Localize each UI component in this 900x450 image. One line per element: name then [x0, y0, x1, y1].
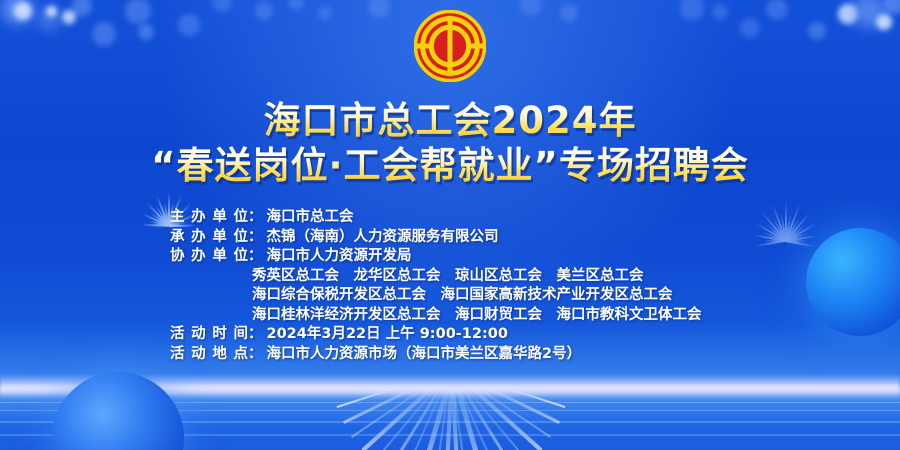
bokeh-dot	[680, 0, 704, 20]
time-label: 活动时间	[170, 325, 248, 345]
bokeh-dot	[125, 0, 151, 24]
info-row-place: 活动地点 ： 海口市人力资源市场（海口市美兰区嘉华路2号）	[170, 345, 730, 365]
coorganizer-extra-line: 秀英区总工会 龙华区总工会 琼山区总工会 美兰区总工会	[252, 267, 730, 287]
bokeh-dot	[852, 0, 886, 28]
info-block: 主办单位 ： 海口市总工会 承办单位 ： 杰锦（海南）人力资源服务有限公司 协办…	[0, 208, 900, 364]
coorganizer-extra-line: 海口综合保税开发区总工会 海口国家高新技术产业开发区总工会	[252, 286, 730, 306]
organizer-value: 海口市总工会	[267, 208, 731, 228]
info-row-coorganizer-extra: 秀英区总工会 龙华区总工会 琼山区总工会 美兰区总工会	[170, 267, 730, 287]
trade-union-emblem	[414, 10, 486, 82]
bokeh-dot	[766, 0, 788, 20]
bokeh-dot	[2, 0, 32, 24]
bokeh-dot	[14, 2, 32, 20]
bokeh-dot	[560, 4, 578, 22]
bokeh-dot	[62, 10, 76, 24]
bokeh-dot	[368, 0, 390, 18]
bokeh-dot	[876, 14, 892, 30]
undertaker-label: 承办单位	[170, 228, 248, 248]
bokeh-dot	[138, 24, 154, 40]
bokeh-dot	[178, 14, 200, 36]
bokeh-dot	[288, 0, 304, 10]
bokeh-dot	[72, 0, 92, 16]
colon: ：	[248, 228, 263, 248]
title-block: 海口市总工会2024年 “春送岗位·工会帮就业”专场招聘会	[0, 98, 900, 188]
bokeh-dot	[712, 4, 728, 20]
time-value: 2024年3月22日 上午 9:00-12:00	[267, 325, 731, 345]
info-row-coorganizer: 协办单位 ： 海口市人力资源开发局	[170, 247, 730, 267]
info-row-coorganizer-extra: 海口桂林洋经济开发区总工会 海口财贸工会 海口市教科文卫体工会	[170, 306, 730, 326]
info-row-organizer: 主办单位 ： 海口市总工会	[170, 208, 730, 228]
place-value: 海口市人力资源市场（海口市美兰区嘉华路2号）	[267, 345, 731, 365]
bokeh-dot	[38, 8, 60, 30]
poster-title-line-2: “春送岗位·工会帮就业”专场招聘会	[0, 143, 900, 188]
bokeh-dot	[520, 0, 542, 16]
poster-title-line-1: 海口市总工会2024年	[0, 98, 900, 143]
organizer-label: 主办单位	[170, 208, 248, 228]
bokeh-dot	[318, 6, 332, 20]
colon: ：	[248, 325, 263, 345]
bokeh-dot	[46, 6, 57, 17]
place-label: 活动地点	[170, 345, 248, 365]
info-row-coorganizer-extra: 海口综合保税开发区总工会 海口国家高新技术产业开发区总工会	[170, 286, 730, 306]
coorganizer-value: 海口市人力资源开发局	[267, 247, 731, 267]
undertaker-value: 杰锦（海南）人力资源服务有限公司	[267, 228, 731, 248]
coorganizer-extra-line: 海口桂林洋经济开发区总工会 海口财贸工会 海口市教科文卫体工会	[252, 306, 730, 326]
bokeh-dot	[92, 22, 116, 46]
info-row-undertaker: 承办单位 ： 杰锦（海南）人力资源服务有限公司	[170, 228, 730, 248]
info-row-time: 活动时间 ： 2024年3月22日 上午 9:00-12:00	[170, 325, 730, 345]
bokeh-dot	[838, 4, 858, 24]
recruitment-poster: 海口市总工会2024年 “春送岗位·工会帮就业”专场招聘会 主办单位 ： 海口市…	[0, 0, 900, 450]
bokeh-dot	[884, 0, 900, 14]
colon: ：	[248, 247, 263, 267]
bokeh-dot	[808, 22, 826, 40]
bokeh-dot	[740, 18, 760, 38]
colon: ：	[248, 345, 263, 365]
bokeh-dot	[255, 2, 273, 20]
bokeh-dot	[212, 0, 232, 12]
colon: ：	[248, 208, 263, 228]
coorganizer-label: 协办单位	[170, 247, 248, 267]
